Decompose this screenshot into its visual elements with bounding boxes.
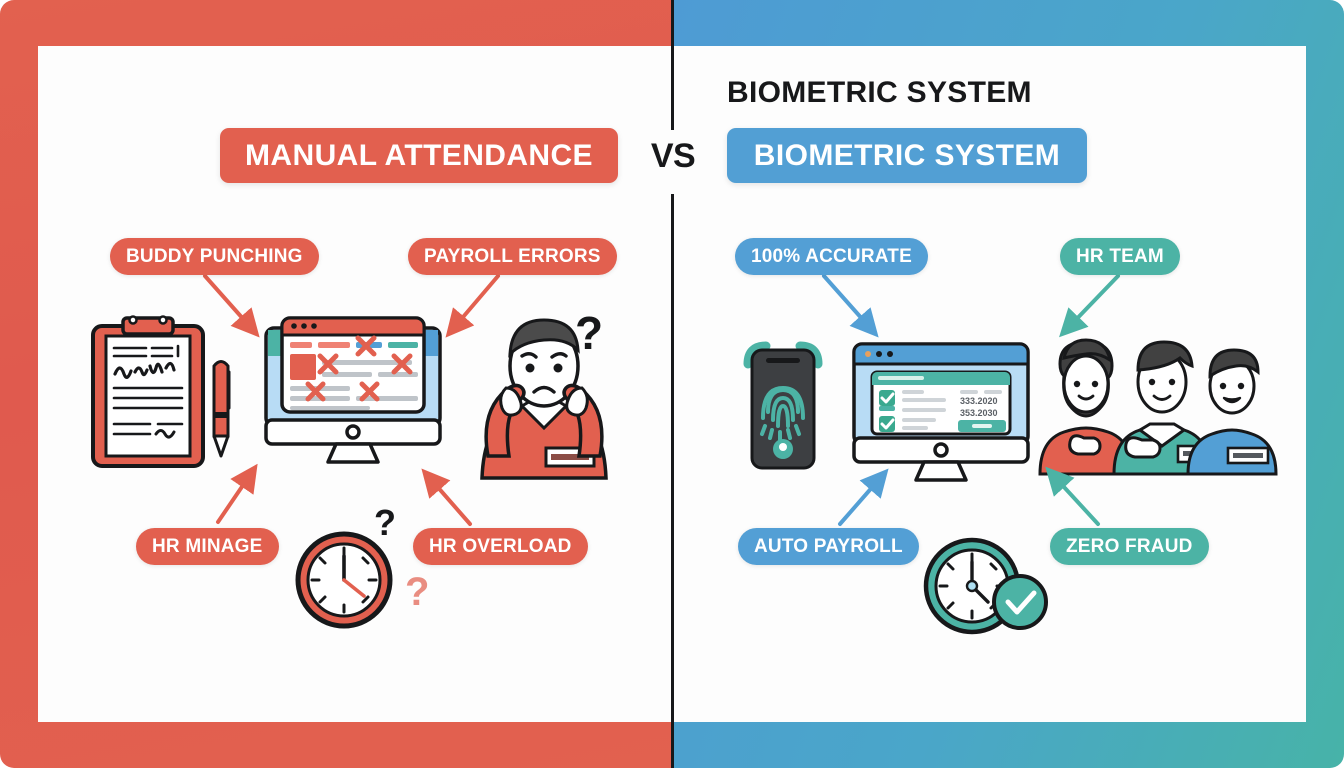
- clipboard-with-signatures-illustration: [88, 312, 208, 472]
- right-panel-heading: BIOMETRIC SYSTEM: [727, 76, 1032, 110]
- monitor-with-errors-illustration: [260, 316, 446, 468]
- question-mark-clock-dark: ?: [374, 502, 396, 544]
- callout-100-accurate: 100% ACCURATE: [735, 238, 928, 275]
- callout-hr-overload: HR OVERLOAD: [413, 528, 588, 565]
- question-mark-clock-light: ?: [405, 570, 429, 615]
- callout-hr-team: HR TEAM: [1060, 238, 1180, 275]
- monitor-with-checks-illustration: 333.2020 353.2030: [848, 334, 1034, 484]
- callout-auto-payroll: AUTO PAYROLL: [738, 528, 919, 565]
- question-mark-employee: ?: [575, 306, 603, 360]
- left-panel-title-badge: MANUAL ATTENDANCE: [220, 128, 618, 183]
- callout-buddy-punching: BUDDY PUNCHING: [110, 238, 319, 275]
- fingerprint-scanner-illustration: [724, 334, 842, 470]
- svg-text:333.2020: 333.2020: [960, 396, 998, 406]
- red-pen-illustration: [207, 356, 237, 462]
- callout-zero-fraud: ZERO FRAUD: [1050, 528, 1209, 565]
- callout-hr-minage: HR MINAGE: [136, 528, 279, 565]
- infographic-canvas: ? ? ?: [0, 0, 1344, 768]
- vs-label: VS: [640, 137, 706, 176]
- panel-divider: [671, 0, 674, 768]
- teal-clock-verified-illustration: [922, 534, 1052, 638]
- happy-hr-team-illustration: [1032, 334, 1258, 474]
- callout-payroll-errors: PAYROLL ERRORS: [408, 238, 617, 275]
- svg-text:353.2030: 353.2030: [960, 408, 998, 418]
- right-panel-title-badge: BIOMETRIC SYSTEM: [727, 128, 1087, 183]
